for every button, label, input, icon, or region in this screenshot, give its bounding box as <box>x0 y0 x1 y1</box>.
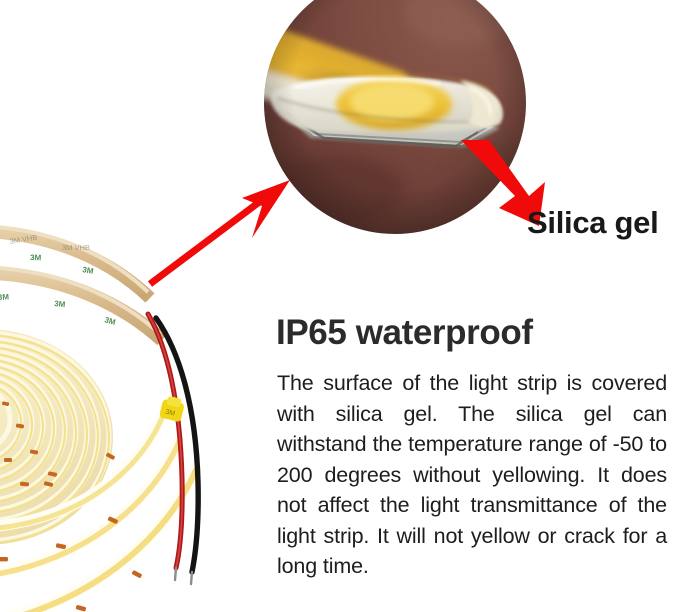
svg-text:3M: 3M <box>103 315 116 327</box>
svg-text:3M: 3M <box>30 253 42 262</box>
product-feature-image: 3M 3M 3M 3M 3M 3M 3M 3M 3M VHB 3M VHB <box>0 0 679 612</box>
svg-text:3M: 3M <box>82 265 95 276</box>
silica-gel-label: Silica gel <box>527 205 658 241</box>
cob-led-strip-reel: 3M 3M 3M 3M 3M 3M 3M 3M 3M VHB 3M VHB <box>0 232 280 612</box>
feature-heading: IP65 waterproof <box>276 313 533 353</box>
red-arrow-to-macro-circle <box>150 176 320 286</box>
adhesive-backing-3m: 3M 3M 3M 3M 3M 3M 3M 3M 3M VHB 3M VHB <box>0 226 162 340</box>
svg-text:3M: 3M <box>54 299 66 309</box>
svg-text:3M VHB: 3M VHB <box>62 243 90 252</box>
feature-body-paragraph: The surface of the light strip is covere… <box>277 368 667 582</box>
svg-text:3M: 3M <box>0 292 10 302</box>
feature-body-text: The surface of the light strip is covere… <box>277 368 667 582</box>
